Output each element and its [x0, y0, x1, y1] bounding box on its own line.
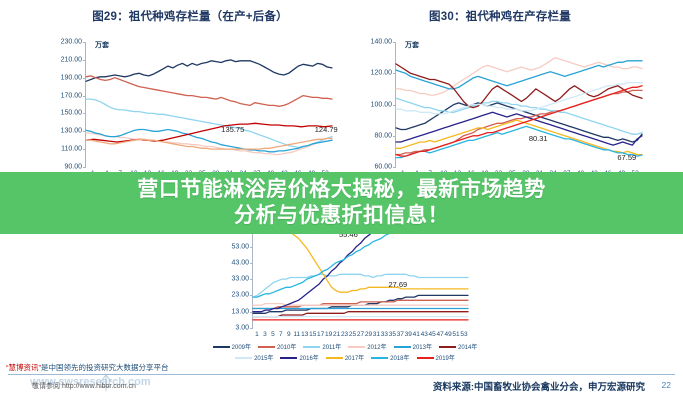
series-line — [86, 123, 332, 142]
promo-banner-line2: 分析与优惠折扣信息！ — [234, 203, 449, 229]
series-line — [396, 64, 642, 108]
legend-label: 2019年 — [436, 353, 455, 362]
data-point-label: 124.79 — [315, 125, 338, 134]
chart-panel-fig29: 图29：祖代种鸡存栏量（在产+后备） 万套 230.00210.00190.00… — [40, 8, 340, 183]
legend-label: 2017年 — [345, 353, 364, 362]
legend-color-swatch — [303, 346, 320, 348]
data-point-label: 135.75 — [221, 125, 244, 134]
legend-color-swatch — [213, 346, 230, 348]
legend-color-swatch — [439, 346, 456, 348]
page-number: 22 — [662, 380, 671, 390]
series-line — [396, 58, 642, 96]
legend-item[interactable]: 2012年 — [348, 342, 386, 351]
series-line — [253, 227, 468, 312]
legend-color-swatch — [258, 346, 275, 348]
data-point-label: 80.31 — [529, 134, 548, 143]
series-lines-fig30 — [350, 30, 650, 180]
slide-page: 图29：祖代种鸡存栏量（在产+后备） 万套 230.00210.00190.00… — [0, 0, 683, 400]
plot-area-fig30: 万套 140.00120.00100.0080.0060.00 14710131… — [350, 30, 650, 180]
series-line — [86, 60, 332, 81]
legend-color-swatch — [235, 357, 252, 359]
legend-item[interactable]: 2009年 — [213, 342, 251, 351]
legend-item[interactable]: 2016年 — [280, 353, 318, 362]
legend-label: 2009年 — [232, 342, 251, 351]
series-lines-fig29 — [40, 30, 340, 180]
series-line — [86, 76, 332, 106]
chart-panel-fig30: 图30：祖代种鸡在产存栏量 万套 140.00120.00100.0080.00… — [350, 8, 650, 183]
legend-item[interactable]: 2010年 — [258, 342, 296, 351]
promo-banner-line1: 营口节能淋浴房价格大揭秘，最新市场趋势 — [137, 177, 546, 203]
series-line — [253, 229, 468, 297]
promo-banner-overlay: 营口节能淋浴房价格大揭秘，最新市场趋势 分析与优惠折扣信息！ — [0, 172, 683, 234]
legend-color-swatch — [326, 357, 343, 359]
legend-item[interactable]: 2011年 — [303, 342, 341, 351]
legend-label: 2015年 — [254, 353, 273, 362]
legend-item[interactable]: 2017年 — [326, 353, 364, 362]
legend-item[interactable]: 2013年 — [394, 342, 432, 351]
legend-label: 2018年 — [390, 353, 409, 362]
chart-legend: 2009年2010年2011年2012年2013年2014年2015年2016年… — [195, 342, 495, 362]
legend-color-swatch — [348, 346, 365, 348]
legend-label: 2013年 — [413, 342, 432, 351]
legend-color-swatch — [394, 346, 411, 348]
legend-label: 2010年 — [277, 342, 296, 351]
source-note: 资料来源:中国畜牧业协会禽业分会，申万宏源研究 — [433, 379, 645, 393]
legend-label: 2014年 — [458, 342, 477, 351]
legend-label: 2016年 — [299, 353, 318, 362]
series-line — [253, 225, 468, 292]
hibor-attribution: “慧博资讯”是中国领先的投资研究大数据分享平台 — [6, 362, 169, 373]
legend-item[interactable]: 2015年 — [235, 353, 273, 362]
hibor-tagline: 是中国领先的投资研究大数据分享平台 — [41, 363, 169, 372]
data-point-label: 67.59 — [617, 153, 636, 162]
legend-label: 2011年 — [322, 342, 341, 351]
hibor-brand: “慧博资讯” — [6, 363, 41, 372]
legend-color-swatch — [371, 357, 388, 359]
data-point-label: 27.69 — [388, 280, 407, 289]
legend-item[interactable]: 2019年 — [417, 353, 455, 362]
legend-item[interactable]: 2018年 — [371, 353, 409, 362]
series-line — [253, 274, 468, 297]
legend-color-swatch — [417, 357, 434, 359]
legend-color-swatch — [280, 357, 297, 359]
series-line — [253, 312, 468, 317]
series-line — [86, 99, 332, 147]
legend-item[interactable]: 2014年 — [439, 342, 477, 351]
plot-area-fig29: 万套 230.00210.00190.00170.00150.00130.001… — [40, 30, 340, 180]
chart-title-fig29: 图29：祖代种鸡存栏量（在产+后备） — [40, 8, 340, 24]
hibor-url-text: 敬请参阅 http://www.hibor.com.cn — [32, 381, 136, 391]
legend-label: 2012年 — [367, 342, 386, 351]
series-line — [86, 138, 332, 149]
chart-title-fig30: 图30：祖代种鸡在产存栏量 — [350, 8, 650, 24]
